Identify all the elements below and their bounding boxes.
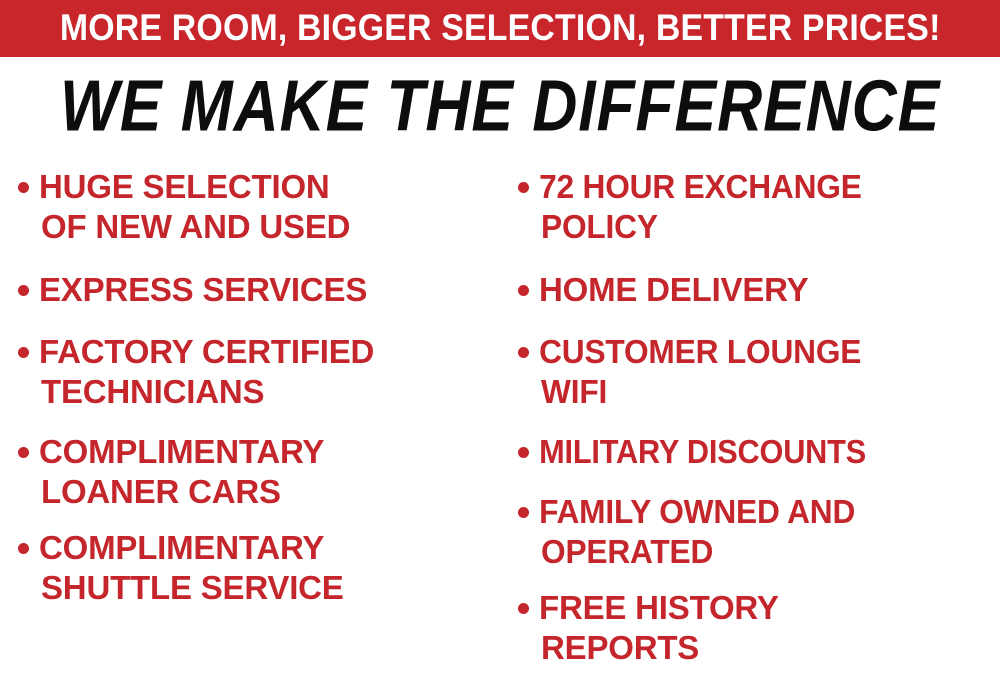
list-item-label: MILITARY DISCOUNTS	[541, 432, 866, 472]
list-item: HOME DELIVERY	[518, 270, 808, 310]
list-item-label: EXPRESS SERVICES	[41, 270, 367, 310]
promo-banner-text: MORE ROOM, BIGGER SELECTION, BETTER PRIC…	[60, 9, 941, 48]
list-item-label: HUGE SELECTION OF NEW AND USED	[41, 167, 350, 247]
page-title: WE MAKE THE DIFFERENCE	[60, 70, 940, 142]
list-item-label: FACTORY CERTIFIED TECHNICIANS	[41, 332, 374, 412]
list-item-label: CUSTOMER LOUNGE WIFI	[541, 332, 861, 412]
list-item-label: HOME DELIVERY	[541, 270, 808, 310]
bullet-dot-icon	[518, 182, 529, 193]
bullet-dot-icon	[518, 447, 529, 458]
list-item-label: FREE HISTORY REPORTS	[541, 588, 779, 668]
list-item: HUGE SELECTION OF NEW AND USED	[18, 167, 350, 247]
bullet-dot-icon	[518, 603, 529, 614]
list-item: EXPRESS SERVICES	[18, 270, 367, 310]
bullet-dot-icon	[18, 543, 29, 554]
list-item: CUSTOMER LOUNGE WIFI	[518, 332, 875, 412]
benefits-columns: HUGE SELECTION OF NEW AND USED EXPRESS S…	[0, 155, 1000, 694]
list-item-label: COMPLIMENTARY LOANER CARS	[41, 432, 324, 512]
list-item: 72 HOUR EXCHANGE POLICY	[518, 167, 875, 247]
list-item-label: 72 HOUR EXCHANGE POLICY	[541, 167, 862, 247]
promo-banner: MORE ROOM, BIGGER SELECTION, BETTER PRIC…	[0, 0, 1000, 57]
list-item: COMPLIMENTARY SHUTTLE SERVICE	[18, 528, 344, 608]
list-item-label: FAMILY OWNED AND OPERATED	[541, 492, 855, 572]
list-item: FACTORY CERTIFIED TECHNICIANS	[18, 332, 374, 412]
benefits-column-left: HUGE SELECTION OF NEW AND USED EXPRESS S…	[18, 155, 508, 694]
list-item: COMPLIMENTARY LOANER CARS	[18, 432, 324, 512]
list-item: FREE HISTORY REPORTS	[518, 588, 779, 668]
bullet-dot-icon	[518, 507, 529, 518]
bullet-dot-icon	[18, 182, 29, 193]
bullet-dot-icon	[18, 347, 29, 358]
bullet-dot-icon	[18, 285, 29, 296]
headline-container: WE MAKE THE DIFFERENCE	[0, 62, 1000, 150]
bullet-dot-icon	[18, 447, 29, 458]
list-item: FAMILY OWNED AND OPERATED	[518, 492, 868, 572]
list-item: MILITARY DISCOUNTS	[518, 432, 890, 472]
bullet-dot-icon	[518, 285, 529, 296]
bullet-dot-icon	[518, 347, 529, 358]
list-item-label: COMPLIMENTARY SHUTTLE SERVICE	[41, 528, 344, 608]
benefits-column-right: 72 HOUR EXCHANGE POLICY HOME DELIVERY CU…	[518, 155, 1000, 694]
